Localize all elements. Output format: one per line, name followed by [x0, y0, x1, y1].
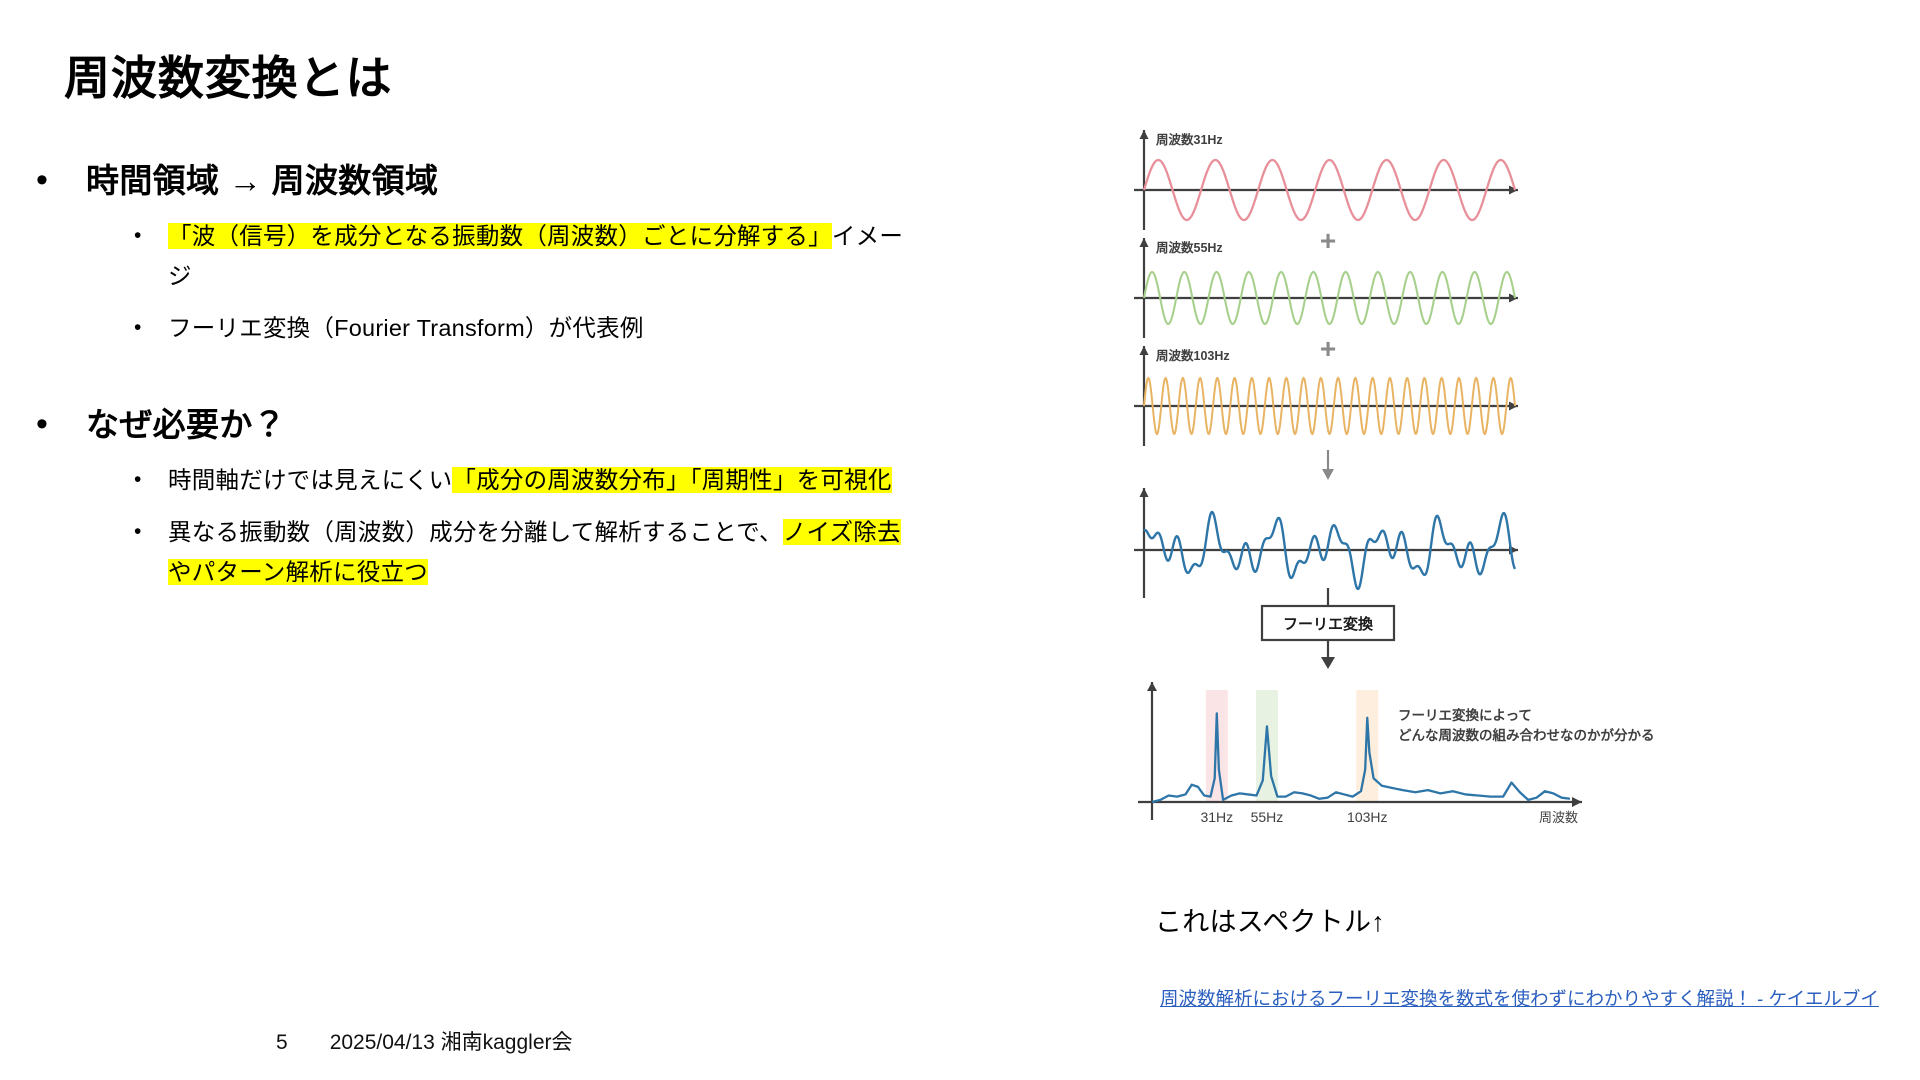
highlighted-text-wrapped: やパターン解析に役立つ [168, 559, 428, 585]
plain-text: 時間軸だけでは見えにくい [168, 467, 452, 493]
section-heading-1: • 時間領域 → 周波数領域 [36, 158, 906, 204]
list-item-label: 時間軸だけでは見えにくい「成分の周波数分布」「周期性」を可視化 [168, 460, 892, 500]
axis-arrow-icon [1140, 238, 1149, 247]
bullet-dot-icon: • [134, 308, 168, 348]
down-arrow-icon [1322, 450, 1334, 480]
bullet-dot-icon: • [36, 402, 86, 446]
transform-box-label: フーリエ変換 [1283, 615, 1374, 633]
list-item-label: 異なる振動数（周波数）成分を分離して解析することで、ノイズ除去やパターン解析に役… [168, 512, 901, 592]
section-heading-2: • なぜ必要か？ [36, 402, 906, 448]
page-title: 周波数変換とは [64, 42, 392, 108]
section-heading-label: 時間領域 → 周波数領域 [86, 158, 438, 204]
list-item: • 「波（信号）を成分となる振動数（周波数）ごとに分解する」イメージ [36, 216, 906, 296]
axis-arrow-icon [1140, 130, 1149, 139]
down-arrow-icon [1321, 657, 1335, 669]
section-spacer [36, 348, 906, 394]
fourier-transform-box: フーリエ変換 [1262, 588, 1394, 669]
bullet-dot-icon: • [134, 216, 168, 256]
list-item-label: 「波（信号）を成分となる振動数（周波数）ごとに分解する」イメージ [168, 216, 906, 296]
annotation-line-1: フーリエ変換によって [1398, 707, 1532, 723]
content-body: • 時間領域 → 周波数領域 • 「波（信号）を成分となる振動数（周波数）ごとに… [36, 150, 906, 592]
figure-caption: これはスペクトル↑ [1155, 900, 1385, 939]
list-item: • 時間軸だけでは見えにくい「成分の周波数分布」「周期性」を可視化 [36, 460, 906, 500]
annotation-line-2: どんな周波数の組み合わせなのかが分かる [1398, 727, 1655, 743]
composite-wave-panel [1134, 488, 1518, 598]
section-heading-label: なぜ必要か？ [86, 402, 286, 448]
wave-label-55hz: 周波数55Hz [1156, 240, 1223, 255]
highlighted-text: 「波（信号）を成分となる振動数（周波数）ごとに分解する」 [168, 223, 832, 249]
list-item: • フーリエ変換（Fourier Transform）が代表例 [36, 308, 906, 348]
bullet-dot-icon: • [134, 512, 168, 552]
footer-meta: 2025/04/13 湘南kaggler会 [330, 1026, 573, 1056]
wave-panel-31hz: 周波数31Hz [1134, 130, 1518, 230]
plus-operator-icon: + [1320, 333, 1336, 364]
plain-text: 異なる振動数（周波数）成分を分離して解析することで、 [168, 519, 783, 545]
plus-operator-icon: + [1320, 225, 1336, 256]
source-link[interactable]: 周波数解析におけるフーリエ変換を数式を使わずにわかりやすく解説！ - ケイエルブ… [1160, 985, 1879, 1011]
axis-arrow-icon [1509, 402, 1518, 411]
x-tick-103hz: 103Hz [1347, 809, 1387, 825]
x-tick-55hz: 55Hz [1251, 809, 1284, 825]
highlighted-text: ノイズ除去 [783, 519, 901, 545]
list-item-label: フーリエ変換（Fourier Transform）が代表例 [168, 308, 644, 348]
axis-arrow-icon [1140, 488, 1149, 497]
footer: 5 2025/04/13 湘南kaggler会 [276, 1026, 573, 1056]
figure-svg: 周波数31Hz + 周波数55Hz + 周波数103Hz [1130, 120, 1890, 910]
axis-arrow-icon [1572, 797, 1582, 807]
wave-label-103hz: 周波数103Hz [1156, 348, 1230, 363]
x-tick-31hz: 31Hz [1200, 809, 1233, 825]
axis-arrow-icon [1140, 346, 1149, 355]
bullet-dot-icon: • [134, 460, 168, 500]
highlighted-text: 「成分の周波数分布」「周期性」を可視化 [452, 467, 891, 493]
spectrum-chart: 31Hz 55Hz 103Hz 周波数 フーリエ変換によって どんな周波数の組み… [1138, 682, 1655, 825]
bullet-dot-icon: • [36, 158, 86, 202]
list-item: • 異なる振動数（周波数）成分を分離して解析することで、ノイズ除去やパターン解析… [36, 512, 906, 592]
wave-label-31hz: 周波数31Hz [1156, 132, 1223, 147]
axis-arrow-icon [1147, 682, 1157, 691]
page-number: 5 [276, 1031, 288, 1055]
x-axis-label: 周波数 [1539, 810, 1578, 825]
